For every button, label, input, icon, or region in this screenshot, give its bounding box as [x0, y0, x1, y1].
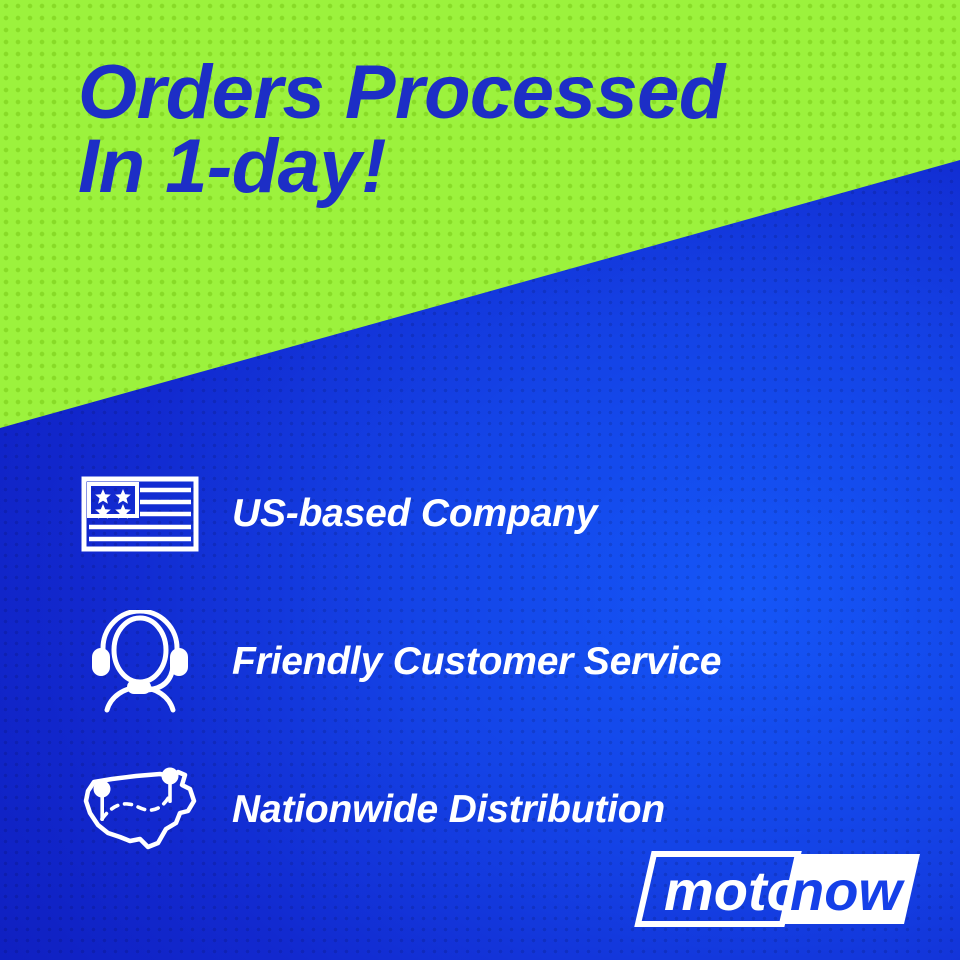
list-item-label: Nationwide Distribution	[232, 788, 665, 832]
page-title: Orders Processed In 1-day!	[78, 56, 918, 205]
us-flag-icon	[70, 476, 210, 552]
list-item-label: US-based Company	[232, 492, 597, 536]
us-map-route-icon	[70, 767, 210, 853]
list-item: Friendly Customer Service	[70, 588, 930, 736]
headset-support-icon	[70, 610, 210, 714]
brand-logo[interactable]: moto now	[632, 848, 922, 930]
logo-text-now: now	[790, 859, 905, 922]
feature-list: US-based Company	[70, 440, 930, 884]
list-item-label: Friendly Customer Service	[232, 640, 721, 684]
list-item: US-based Company	[70, 440, 930, 588]
logo-text-moto: moto	[664, 859, 801, 922]
promo-banner: Orders Processed In 1-day!	[0, 0, 960, 960]
